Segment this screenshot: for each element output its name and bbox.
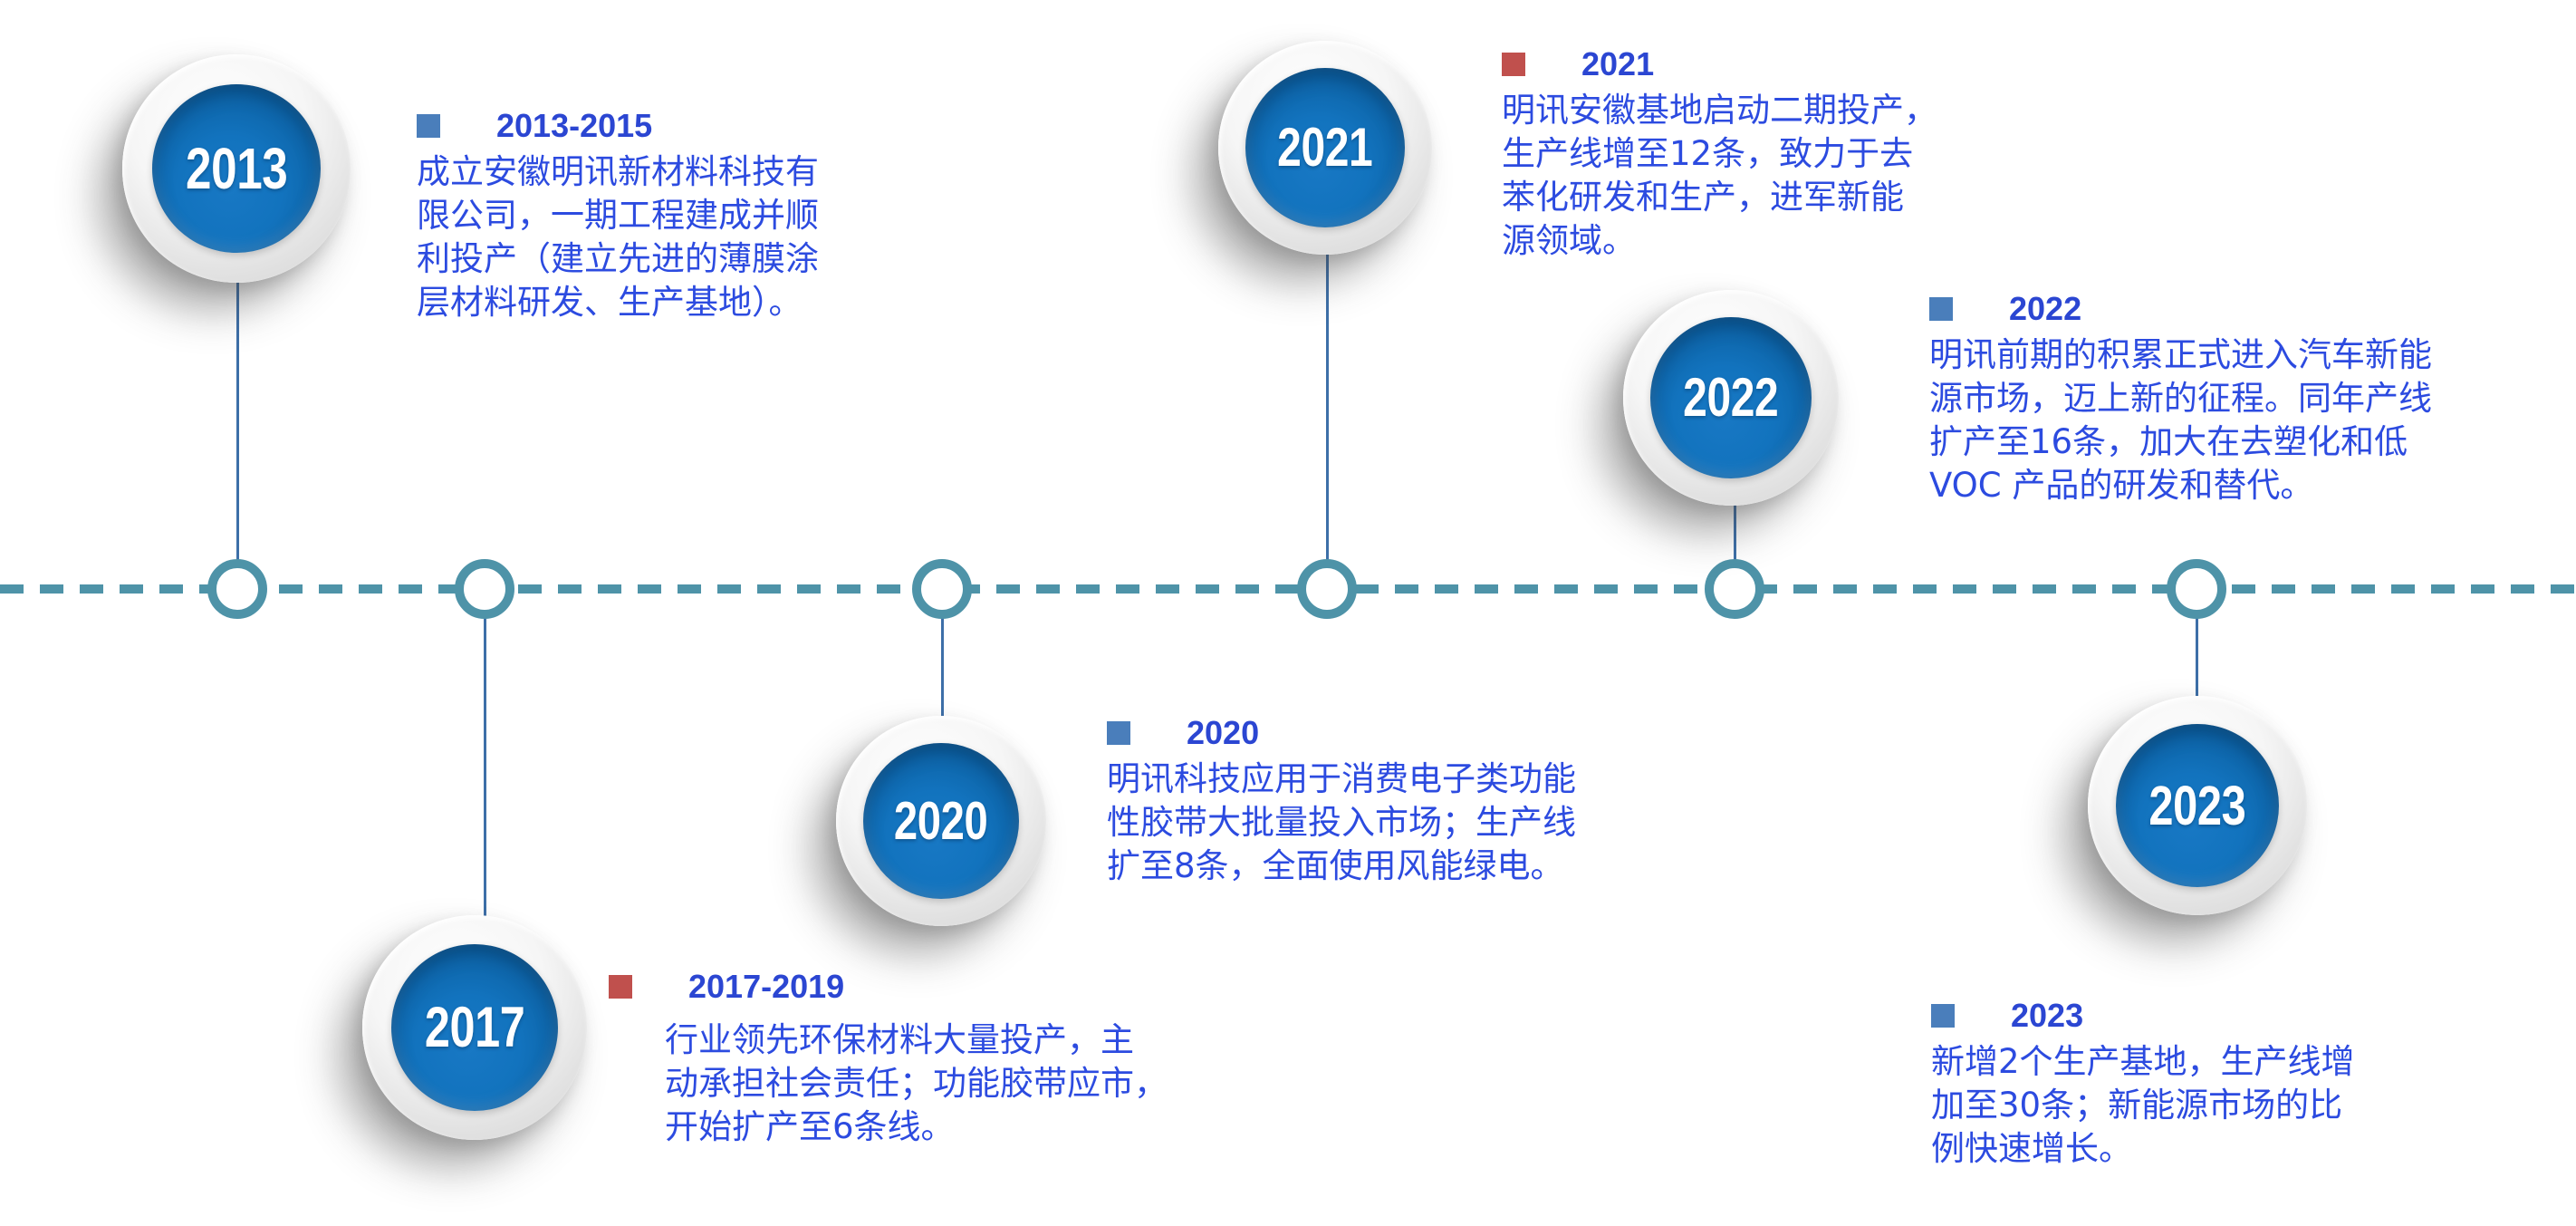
year-badge-inner: 2020 [863, 743, 1019, 899]
year-badge-2023[interactable]: 2023 [2088, 696, 2307, 915]
year-badge-label: 2020 [894, 795, 987, 848]
milestone-heading-row: 2013-2015 [417, 107, 924, 145]
bullet-square-icon [1931, 1004, 1955, 1028]
connector-stem-2021 [1326, 249, 1329, 562]
timeline-node-2021[interactable] [1297, 559, 1357, 619]
bullet-square-icon [609, 975, 632, 999]
milestone-body: 明讯科技应用于消费电子类功能 性胶带大批量投入市场；生产线 扩至8条，全面使用风… [1107, 758, 1705, 888]
milestone-heading-row: 2021 [1502, 45, 2045, 83]
timeline-node-2017[interactable] [455, 559, 514, 619]
year-badge-2021[interactable]: 2021 [1218, 41, 1432, 255]
bullet-square-icon [417, 114, 440, 138]
milestone-body: 明讯安徽基地启动二期投产， 生产线增至12条，致力于去 苯化研发和生产，进军新能… [1502, 89, 2045, 263]
timeline-infographic: 2013 2017 2020 2021 2022 2023 2013-2015 … [0, 0, 2576, 1226]
milestone-block-2013: 2013-2015 成立安徽明讯新材料科技有 限公司，一期工程建成并顺 利投产（… [417, 107, 924, 324]
timeline-node-2023[interactable] [2167, 559, 2226, 619]
milestone-body: 行业领先环保材料大量投产，主 动承担社会责任；功能胶带应市， 开始扩产至6条线。 [665, 1018, 1206, 1149]
year-badge-label: 2021 [1277, 121, 1372, 175]
bullet-square-icon [1502, 53, 1525, 76]
year-badge-inner: 2021 [1245, 68, 1405, 227]
milestone-heading: 2020 [1187, 714, 1259, 752]
year-badge-2017[interactable]: 2017 [362, 915, 587, 1140]
milestone-heading: 2017-2019 [688, 968, 844, 1006]
milestone-body: 新增2个生产基地，生产线增 加至30条；新能源市场的比 例快速增长。 [1931, 1040, 2493, 1171]
connector-stem-2013 [236, 272, 239, 562]
milestone-heading: 2023 [2011, 997, 2083, 1035]
year-badge-inner: 2013 [152, 84, 321, 253]
milestone-heading-row: 2023 [1931, 997, 2493, 1035]
milestone-body: 明讯前期的积累正式进入汽车新能 源市场，迈上新的征程。同年产线 扩产至16条，加… [1929, 333, 2545, 507]
year-badge-2013[interactable]: 2013 [122, 54, 351, 283]
milestone-block-2021: 2021 明讯安徽基地启动二期投产， 生产线增至12条，致力于去 苯化研发和生产… [1502, 45, 2045, 263]
year-badge-label: 2013 [186, 140, 287, 198]
milestone-heading: 2022 [2009, 290, 2081, 328]
milestone-body: 成立安徽明讯新材料科技有 限公司，一期工程建成并顺 利投产（建立先进的薄膜涂 层… [417, 150, 924, 324]
timeline-node-2013[interactable] [207, 559, 267, 619]
year-badge-2020[interactable]: 2020 [836, 716, 1046, 926]
milestone-heading-row: 2022 [1929, 290, 2545, 328]
year-badge-inner: 2022 [1650, 317, 1812, 478]
milestone-block-2020: 2020 明讯科技应用于消费电子类功能 性胶带大批量投入市场；生产线 扩至8条，… [1107, 714, 1705, 888]
milestone-block-2023: 2023 新增2个生产基地，生产线增 加至30条；新能源市场的比 例快速增长。 [1931, 997, 2493, 1171]
milestone-heading-row: 2017-2019 [609, 968, 1206, 1006]
bullet-square-icon [1929, 297, 1953, 321]
year-badge-inner: 2023 [2116, 724, 2279, 887]
milestone-heading: 2013-2015 [496, 107, 652, 145]
milestone-heading-row: 2020 [1107, 714, 1705, 752]
year-badge-label: 2023 [2149, 778, 2246, 834]
timeline-node-2020[interactable] [912, 559, 972, 619]
bullet-square-icon [1107, 721, 1130, 745]
timeline-node-2022[interactable] [1705, 559, 1764, 619]
milestone-block-2017: 2017-2019 行业领先环保材料大量投产，主 动承担社会责任；功能胶带应市，… [609, 968, 1206, 1149]
year-badge-inner: 2017 [391, 944, 558, 1111]
connector-stem-2017 [484, 616, 486, 942]
year-badge-label: 2017 [425, 999, 525, 1057]
milestone-block-2022: 2022 明讯前期的积累正式进入汽车新能 源市场，迈上新的征程。同年产线 扩产至… [1929, 290, 2545, 507]
year-badge-label: 2022 [1683, 371, 1778, 425]
milestone-heading: 2021 [1581, 45, 1654, 83]
year-badge-2022[interactable]: 2022 [1623, 290, 1839, 506]
